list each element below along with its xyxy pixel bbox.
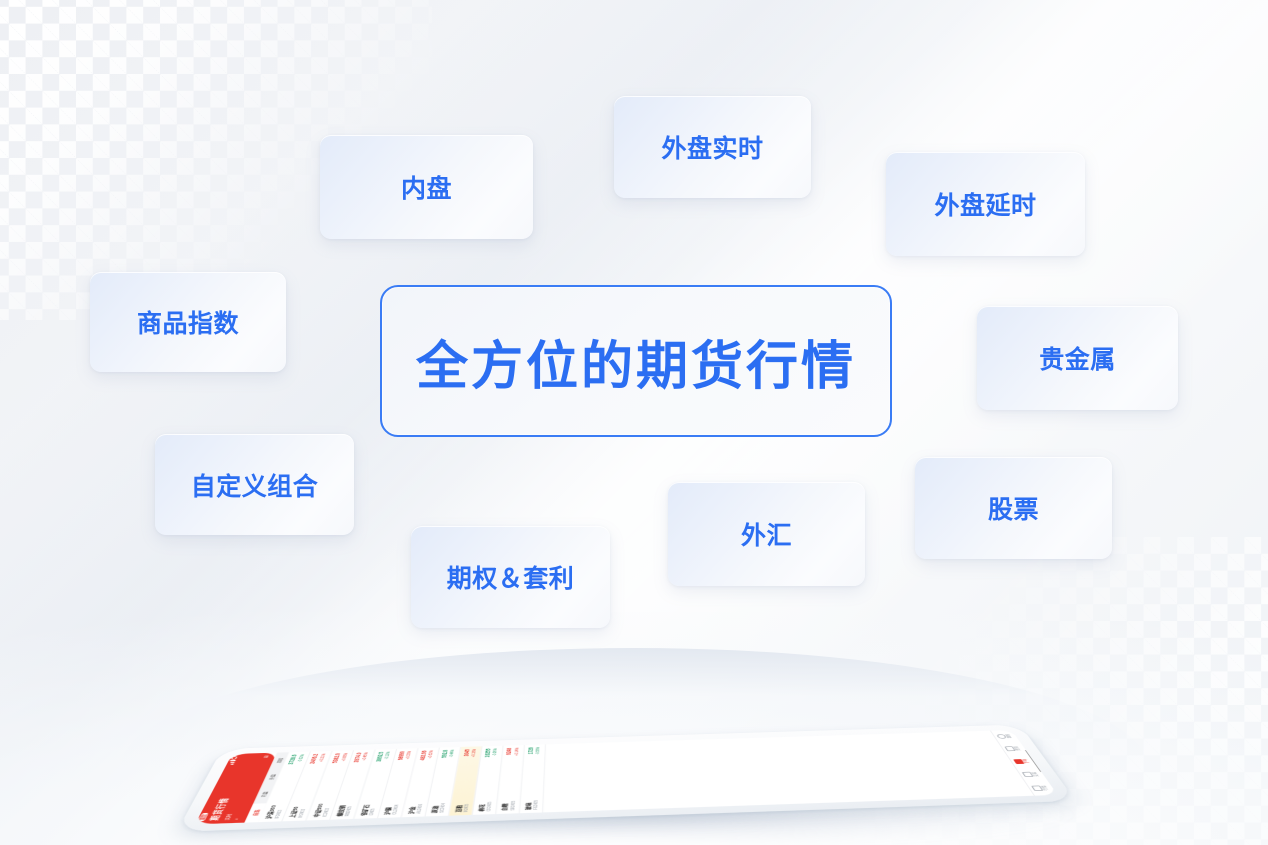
quote-code: SR2405 — [510, 801, 516, 811]
quote-name: 原油 — [429, 803, 440, 813]
card-label: 外盘延时 — [934, 186, 1036, 222]
card-commodity-index[interactable]: 商品指数 — [90, 272, 286, 372]
quote-change: +0.33% — [406, 751, 413, 759]
card-label: 外盘实时 — [661, 129, 763, 165]
quote-identity: 沪铜CU2404 — [382, 805, 400, 815]
quote-values: 6248+0.14% — [506, 748, 519, 756]
quote-name: 白糖 — [500, 801, 510, 811]
quote-values: 1726-0.58% — [528, 747, 541, 755]
quote-name: 棉花 — [476, 802, 486, 812]
card-waipan-delayed[interactable]: 外盘延时 — [886, 152, 1085, 256]
quote-code: M2405 — [463, 804, 469, 812]
quote-change: -0.12% — [384, 752, 391, 760]
card-label: 贵金属 — [1039, 340, 1116, 376]
card-stocks[interactable]: 股票 — [915, 457, 1112, 559]
quote-values: 3045+0.18% — [463, 749, 477, 757]
quote-identity: 上证50IH2403 — [287, 806, 307, 818]
card-options-arbitrage[interactable]: 期权＆套利 — [411, 526, 610, 628]
quote-change: -0.26% — [493, 748, 499, 756]
card-label: 自定义组合 — [191, 467, 319, 503]
page-title: 全方位的期货行情 — [416, 324, 856, 399]
card-forex[interactable]: 外汇 — [668, 482, 865, 586]
quote-identity: 原油SC2404 — [429, 803, 446, 813]
card-label: 内盘 — [401, 169, 452, 205]
quote-name: 豆粕 — [453, 804, 463, 812]
quote-price: 1726 — [528, 747, 535, 754]
page-stage: 内盘 外盘实时 外盘延时 商品指数 贵金属 自定义组合 股票 期权＆套利 外汇 … — [0, 0, 1268, 845]
quote-change: +0.18% — [471, 749, 477, 757]
quote-code: FG2405 — [533, 800, 539, 810]
quote-price: 6248 — [506, 748, 513, 755]
menu-icon[interactable]: ▤ — [263, 755, 270, 758]
card-precious-metals[interactable]: 贵金属 — [977, 306, 1178, 410]
quote-identity: 豆粕M2405 — [453, 804, 470, 813]
quote-identity: 螺纹钢RB2405 — [335, 805, 354, 816]
quote-price: 16255 — [485, 748, 493, 757]
quote-values: 3974.0+0.45% — [354, 752, 370, 762]
card-neipan[interactable]: 内盘 — [320, 135, 533, 239]
quote-code: CF2405 — [487, 802, 493, 812]
quote-price: 482.66 — [419, 750, 428, 760]
quote-change: +0.45% — [362, 752, 369, 760]
device-mockup: 期货 期货行情 实时 ⌕ ▤ — [150, 636, 1140, 845]
quote-identity: 沪深300IF2403 — [263, 805, 284, 819]
card-label: 期权＆套利 — [447, 559, 575, 595]
quote-name: 玻璃 — [523, 800, 533, 810]
quote-identity: 中证500IC2403 — [311, 803, 331, 817]
quote-values: 3728.6-0.32% — [288, 754, 305, 764]
card-label: 外汇 — [741, 516, 792, 552]
quote-change: -0.58% — [536, 747, 541, 755]
card-custom-combo[interactable]: 自定义组合 — [155, 434, 354, 535]
quote-change: -0.44% — [449, 750, 455, 758]
quote-values: 3862.5-0.12% — [376, 752, 391, 762]
quote-row[interactable]: 玻璃FG24051726-0.58% — [519, 744, 545, 813]
quote-values: 5382.0+0.68% — [332, 753, 348, 763]
quote-values: 592.8-0.44% — [442, 750, 456, 758]
quote-values: 16255-0.26% — [485, 748, 498, 757]
quote-identity: 沪金AU2406 — [406, 804, 424, 814]
search-icon[interactable]: ⌕ — [234, 818, 241, 820]
quote-values: 2406.2+0.21% — [310, 754, 326, 764]
app-badge: 期货 — [198, 813, 208, 821]
card-waipan-realtime[interactable]: 外盘实时 — [614, 96, 811, 198]
quote-change: +0.14% — [514, 748, 519, 756]
quote-values: 68990+0.33% — [398, 751, 413, 760]
card-label: 股票 — [988, 490, 1039, 526]
card-label: 商品指数 — [137, 304, 239, 340]
quote-code: AU2406 — [416, 804, 423, 814]
hero-box: 全方位的期货行情 — [380, 285, 892, 437]
quote-identity: 棉花CF2405 — [476, 802, 493, 812]
quote-price: 3045 — [463, 749, 471, 756]
quote-identity: 铁矿石I2405 — [358, 804, 377, 815]
quote-code: CU2404 — [393, 805, 401, 815]
quote-code: SC2404 — [440, 803, 447, 813]
quote-identity: 白糖SR2405 — [500, 801, 516, 811]
quote-values: 482.66+0.52% — [419, 750, 434, 760]
quote-identity: 玻璃FG2405 — [523, 800, 539, 810]
quote-change: +0.52% — [428, 750, 434, 758]
